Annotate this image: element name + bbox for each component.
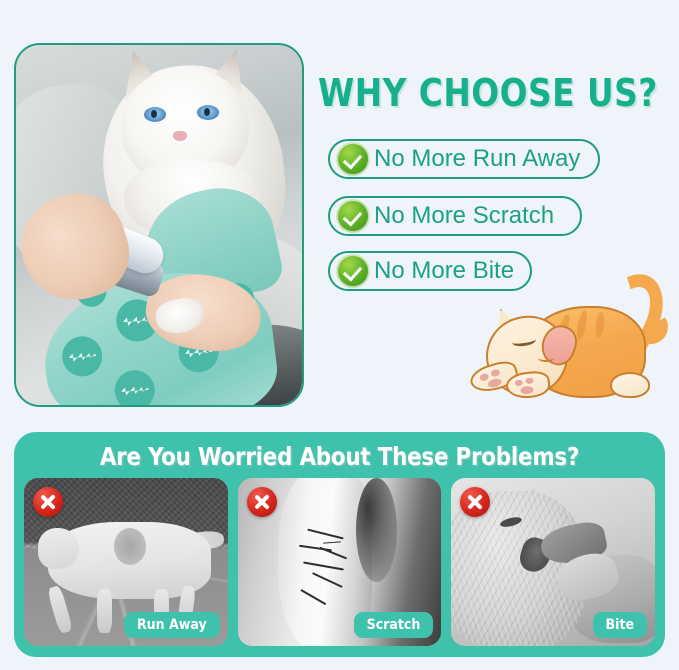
mascot-paw-pad — [520, 385, 534, 394]
photo-cat-nose — [173, 131, 187, 141]
x-circle-icon — [33, 487, 63, 517]
mascot-paw-pad — [514, 380, 523, 387]
benefit-label: No More Run Away — [374, 145, 580, 173]
check-circle-icon — [338, 144, 368, 174]
hero-section: WHY CHOOSE US? No More Run Away No More … — [0, 0, 679, 425]
benefit-item-scratch: No More Scratch — [328, 196, 582, 236]
check-circle-icon — [338, 201, 368, 231]
problem-card-bite: Bite — [451, 478, 655, 646]
problem-caption: Bite — [593, 612, 647, 638]
fishbone-pattern-dot — [60, 334, 105, 379]
mascot-hind-paw — [610, 372, 650, 398]
hero-product-photo — [14, 43, 304, 407]
photo-cat-eye-left — [144, 107, 166, 122]
problem-cards-row: Run Away Scratch — [24, 478, 655, 646]
problems-section: Are You Worried About These Problems? Ru… — [14, 432, 665, 657]
problem-caption: Scratch — [354, 612, 434, 638]
photo-cat-eye-right — [197, 105, 219, 120]
x-circle-icon — [247, 487, 277, 517]
mascot-paw-pad — [490, 368, 501, 377]
problem-card-run-away: Run Away — [24, 478, 228, 646]
problems-title: Are You Worried About These Problems? — [30, 442, 648, 471]
mascot-paw-pad — [525, 377, 534, 384]
card1-cat-head — [38, 528, 79, 568]
page-title: WHY CHOOSE US? — [318, 71, 660, 115]
card1-cat-leg — [97, 589, 111, 633]
mascot-mouth — [538, 354, 554, 362]
fishbone-pattern-dot — [112, 368, 157, 407]
problem-card-scratch: Scratch — [238, 478, 442, 646]
mascot-paw-pad — [487, 377, 503, 389]
mascot-paw-pad — [479, 373, 490, 382]
check-circle-icon — [338, 256, 368, 286]
card2-shadow — [356, 478, 397, 582]
stretching-cat-illustration — [468, 268, 668, 413]
benefit-item-run-away: No More Run Away — [328, 139, 600, 179]
benefit-label: No More Scratch — [374, 202, 554, 230]
problem-caption: Run Away — [124, 612, 220, 638]
